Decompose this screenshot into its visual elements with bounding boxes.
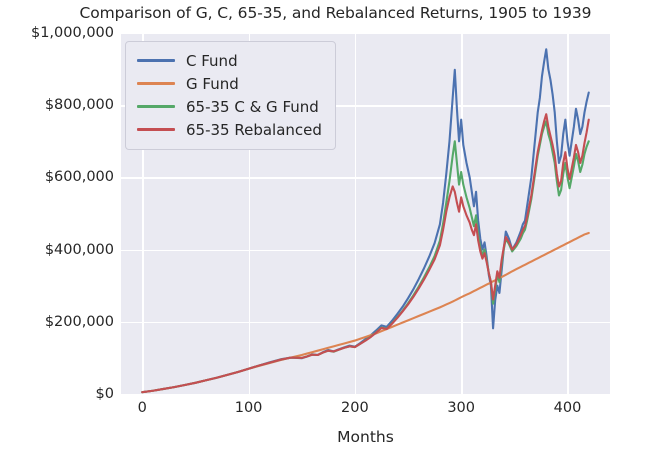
x-tick-label: 300 (421, 400, 501, 416)
series-line (142, 114, 588, 392)
y-tick-label: $800,000 (2, 97, 114, 113)
legend-label: 65-35 C & G Fund (186, 98, 319, 116)
y-tick-label: $600,000 (2, 169, 114, 185)
series-line (142, 121, 588, 392)
legend-color-swatch (137, 59, 175, 62)
legend-color-swatch (137, 105, 175, 108)
x-tick-label: 200 (315, 400, 395, 416)
x-tick-label: 100 (209, 400, 289, 416)
y-axis-ticks: $0$200,000$400,000$600,000$800,000$1,000… (0, 33, 114, 394)
legend-label: 65-35 Rebalanced (186, 121, 322, 139)
x-axis-ticks: 0100200300400 (121, 400, 610, 422)
x-axis-label: Months (121, 428, 610, 446)
y-tick-label: $1,000,000 (2, 25, 114, 41)
y-tick-label: $0 (2, 386, 114, 402)
y-tick-label: $400,000 (2, 242, 114, 258)
legend-color-swatch (137, 128, 175, 131)
legend-item[interactable]: 65-35 Rebalanced (137, 118, 322, 141)
legend-color-swatch (137, 82, 175, 85)
legend-label: C Fund (186, 52, 238, 70)
chart-legend[interactable]: C FundG Fund65-35 C & G Fund65-35 Rebala… (125, 41, 336, 150)
chart-figure: Comparison of G, C, 65-35, and Rebalance… (0, 0, 671, 468)
legend-item[interactable]: C Fund (137, 49, 322, 72)
x-tick-label: 0 (102, 400, 182, 416)
series-line (142, 233, 588, 392)
legend-item[interactable]: 65-35 C & G Fund (137, 95, 322, 118)
chart-title: Comparison of G, C, 65-35, and Rebalance… (0, 4, 671, 22)
legend-item[interactable]: G Fund (137, 72, 322, 95)
x-tick-label: 400 (527, 400, 607, 416)
y-tick-label: $200,000 (2, 314, 114, 330)
legend-label: G Fund (186, 75, 239, 93)
